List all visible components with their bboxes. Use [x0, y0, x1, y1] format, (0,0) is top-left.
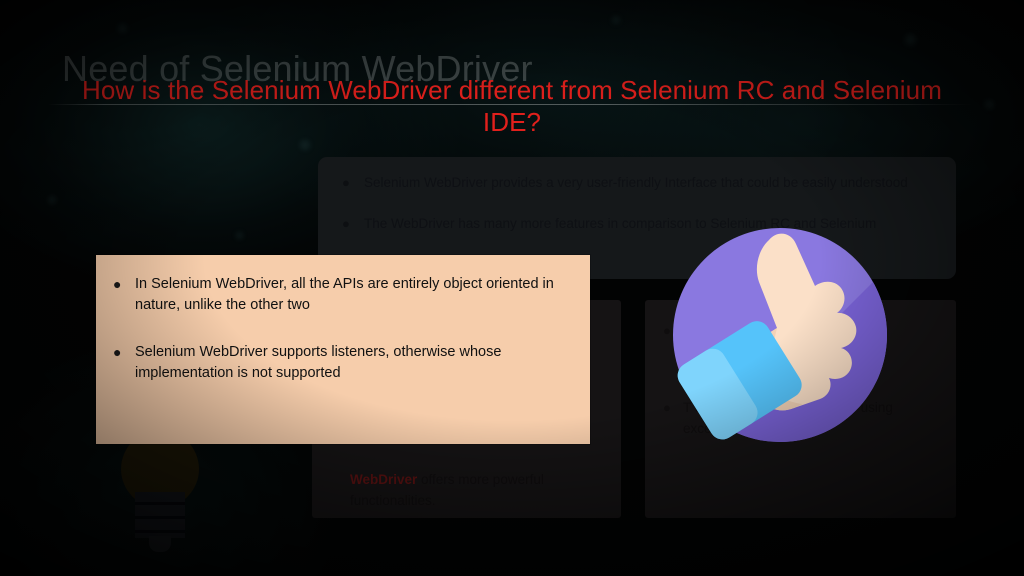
background-speck [300, 140, 310, 150]
bullet-text: WebDriver offers more powerful functiona… [350, 469, 599, 511]
background-speck [48, 196, 56, 204]
bullet-icon: ● [342, 213, 364, 234]
title-underline [48, 104, 972, 105]
background-speck [612, 16, 620, 24]
bullet-text: In Selenium WebDriver, all the APIs are … [135, 274, 564, 316]
callout-box: ● In Selenium WebDriver, all the APIs ar… [96, 255, 590, 444]
bullet-icon: ● [110, 274, 135, 316]
presentation-slide: Need of Selenium WebDriver How is the Se… [0, 0, 1024, 576]
background-speck [118, 24, 127, 33]
highlight-term: WebDriver [350, 472, 417, 487]
bullet-icon: ● [110, 342, 135, 384]
lightbulb-ring [135, 530, 185, 533]
slide-title: How is the Selenium WebDriver different … [52, 74, 972, 138]
title-line-2: IDE? [52, 106, 972, 138]
lightbulb-ring [135, 502, 185, 505]
lightbulb-icon [108, 430, 213, 570]
background-speck [905, 34, 916, 45]
list-item: ● In Selenium WebDriver, all the APIs ar… [96, 274, 590, 316]
bullet-text: Selenium WebDriver provides a very user-… [364, 172, 908, 193]
list-item: ● Selenium WebDriver supports listeners,… [96, 342, 590, 384]
bullet-icon: ● [342, 172, 364, 193]
bullet-icon [330, 469, 350, 511]
list-item: ● Selenium WebDriver provides a very use… [318, 172, 956, 193]
list-item: WebDriver offers more powerful functiona… [312, 469, 621, 511]
background-speck [236, 232, 243, 239]
hand-thumbs-up-icon [673, 228, 887, 442]
lightbulb-ring [135, 516, 185, 519]
lightbulb-tip [149, 536, 171, 552]
title-line-1: How is the Selenium WebDriver different … [52, 74, 972, 106]
background-speck [985, 100, 994, 109]
bullet-text: Selenium WebDriver supports listeners, o… [135, 342, 564, 384]
